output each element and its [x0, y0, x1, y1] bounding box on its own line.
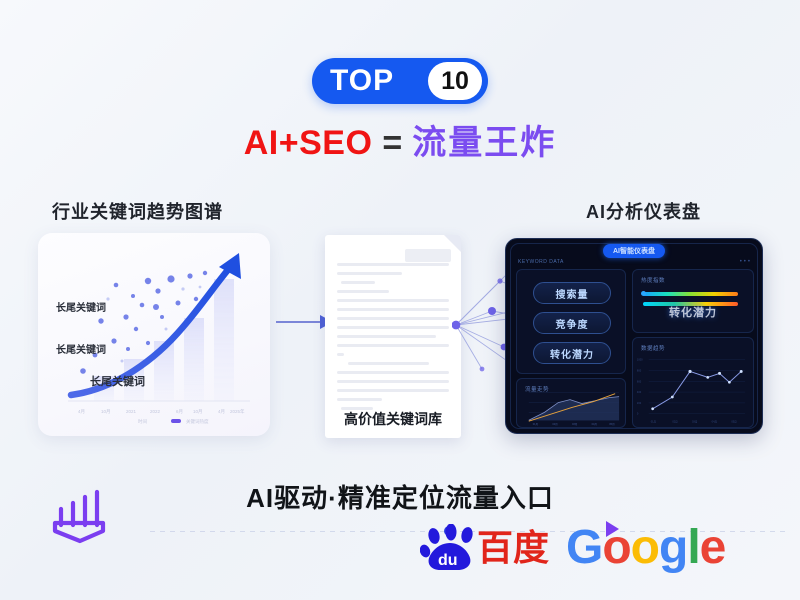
bottom-tagline: AI驱动·精准定位流量入口 — [0, 478, 800, 515]
svg-text:关键词热度: 关键词热度 — [186, 418, 209, 425]
trend-chart: 长尾关键词 长尾关键词 长尾关键词 4月10月 20212022 6月10月 4… — [38, 233, 270, 436]
svg-text:05月: 05月 — [609, 422, 615, 426]
google-letter-o1: o — [602, 521, 630, 574]
dashboard-line-chart: 1000800600 4002000 01月02月03月 04月05月 — [633, 338, 753, 428]
svg-text:600: 600 — [637, 379, 642, 383]
gauge-panel-title: 热度指数 — [641, 276, 665, 284]
google-logo: Google — [566, 524, 725, 572]
bar-chart-icon — [47, 487, 113, 547]
ai-dashboard: AI智能仪表盘 KEYWORD DATA ••• 搜索量 竞争度 转化潜力 流量… — [505, 238, 763, 434]
svg-text:200: 200 — [637, 401, 642, 405]
left-section-title: 行业关键词趋势图谱 — [52, 198, 223, 224]
trend-line-panel: 数据趋势 1000800600 4002000 — [632, 337, 754, 428]
keyword-library-document: 高价值关键词库 — [325, 235, 461, 438]
svg-text:长尾关键词: 长尾关键词 — [56, 301, 106, 314]
svg-text:长尾关键词: 长尾关键词 — [90, 374, 145, 388]
svg-text:2021: 2021 — [126, 409, 137, 414]
top-badge-number: 10 — [428, 62, 482, 100]
google-letter-g1: G — [566, 521, 602, 574]
right-section-title: AI分析仪表盘 — [586, 198, 701, 224]
svg-text:800: 800 — [637, 368, 642, 372]
doc-text-lines — [337, 263, 449, 416]
google-letter-o2: o — [631, 521, 659, 574]
svg-text:01月: 01月 — [651, 420, 657, 424]
svg-text:时间: 时间 — [138, 418, 147, 425]
svg-text:4月: 4月 — [218, 409, 225, 415]
svg-text:4月: 4月 — [78, 409, 85, 415]
headline-ai-seo: AI+SEO — [244, 124, 373, 162]
headline-traffic: 流量王炸 — [412, 124, 556, 162]
svg-text:01月: 01月 — [533, 422, 539, 426]
svg-text:02月: 02月 — [672, 420, 678, 424]
baidu-logo-text: du — [438, 552, 458, 569]
svg-text:05月: 05月 — [731, 420, 737, 424]
svg-text:6月: 6月 — [176, 409, 183, 415]
baidu-brand-label: 百度 — [477, 530, 549, 566]
svg-text:2025年: 2025年 — [230, 408, 245, 415]
doc-header-block — [405, 249, 451, 262]
poster-canvas: TOP 10 AI+SEO=流量王炸 行业关键词趋势图谱 AI分析仪表盘 — [0, 0, 800, 600]
document-label: 高价值关键词库 — [325, 409, 461, 429]
headline-equals: = — [382, 124, 402, 162]
metric-pill-panel: 搜索量 竞争度 转化潜力 — [516, 269, 626, 374]
metric-pill-search-volume[interactable]: 搜索量 — [533, 282, 611, 304]
svg-text:02月: 02月 — [552, 422, 558, 426]
svg-text:04月: 04月 — [712, 420, 718, 424]
google-letter-g2: g — [659, 521, 687, 574]
svg-text:2022: 2022 — [150, 409, 161, 414]
dashboard-subtitle: KEYWORD DATA — [518, 259, 564, 265]
heat-index-panel: 热度指数 转化潜力 — [632, 269, 754, 333]
metric-pill-competition[interactable]: 竞争度 — [533, 312, 611, 334]
keyword-trend-card: 长尾关键词 长尾关键词 长尾关键词 4月10月 20212022 6月10月 4… — [38, 233, 270, 436]
svg-text:1000: 1000 — [637, 358, 643, 362]
dashboard-menu-icon[interactable]: ••• — [740, 259, 752, 265]
gauge-overlay-label: 转化潜力 — [633, 304, 753, 320]
page-title: AI+SEO=流量王炸 — [0, 126, 800, 160]
area-chart-panel: 流量走势 01月02月 03月04月05月 — [516, 378, 626, 428]
gauge-marker-dot — [641, 291, 646, 296]
top-rank-badge: TOP 10 — [312, 58, 488, 104]
svg-text:长尾关键词: 长尾关键词 — [56, 343, 106, 356]
dashboard-title-badge: AI智能仪表盘 — [603, 244, 665, 258]
svg-text:03月: 03月 — [572, 422, 578, 426]
google-letter-l: l — [687, 521, 699, 574]
google-letter-e: e — [700, 521, 726, 574]
svg-text:03月: 03月 — [692, 420, 698, 424]
area-chart: 01月02月 03月04月05月 — [517, 379, 625, 428]
top-badge-word: TOP — [330, 66, 428, 96]
heat-gradient-bar-1 — [643, 292, 738, 296]
svg-text:10月: 10月 — [101, 409, 111, 415]
svg-text:10月: 10月 — [193, 409, 203, 415]
metric-pill-conversion[interactable]: 转化潜力 — [533, 342, 611, 364]
svg-text:0: 0 — [637, 412, 639, 416]
svg-text:400: 400 — [637, 390, 642, 394]
svg-text:04月: 04月 — [592, 422, 598, 426]
